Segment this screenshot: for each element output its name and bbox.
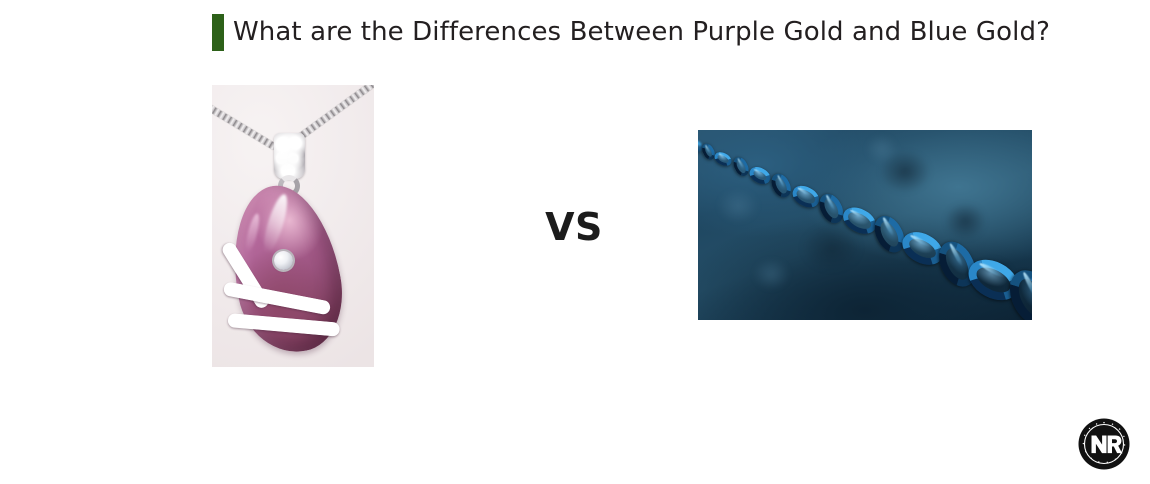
- pendant-bail: [274, 133, 305, 179]
- title-accent-bar: [212, 14, 224, 51]
- chain-link: [747, 164, 773, 187]
- page-title-text: What are the Differences Between Purple …: [233, 19, 1050, 45]
- versus-label: VS: [539, 208, 609, 246]
- purple-gold-image: [212, 85, 374, 367]
- pendant-center-diamond: [274, 251, 293, 270]
- chain-link: [839, 202, 880, 239]
- chain-link: [712, 149, 734, 168]
- page-title: What are the Differences Between Purple …: [212, 13, 1050, 51]
- blue-gold-image: [698, 130, 1032, 320]
- chain-link: [789, 182, 822, 211]
- blue-chain: [698, 130, 1032, 320]
- brand-logo: [1077, 417, 1131, 471]
- necklace-chain-left: [212, 101, 278, 150]
